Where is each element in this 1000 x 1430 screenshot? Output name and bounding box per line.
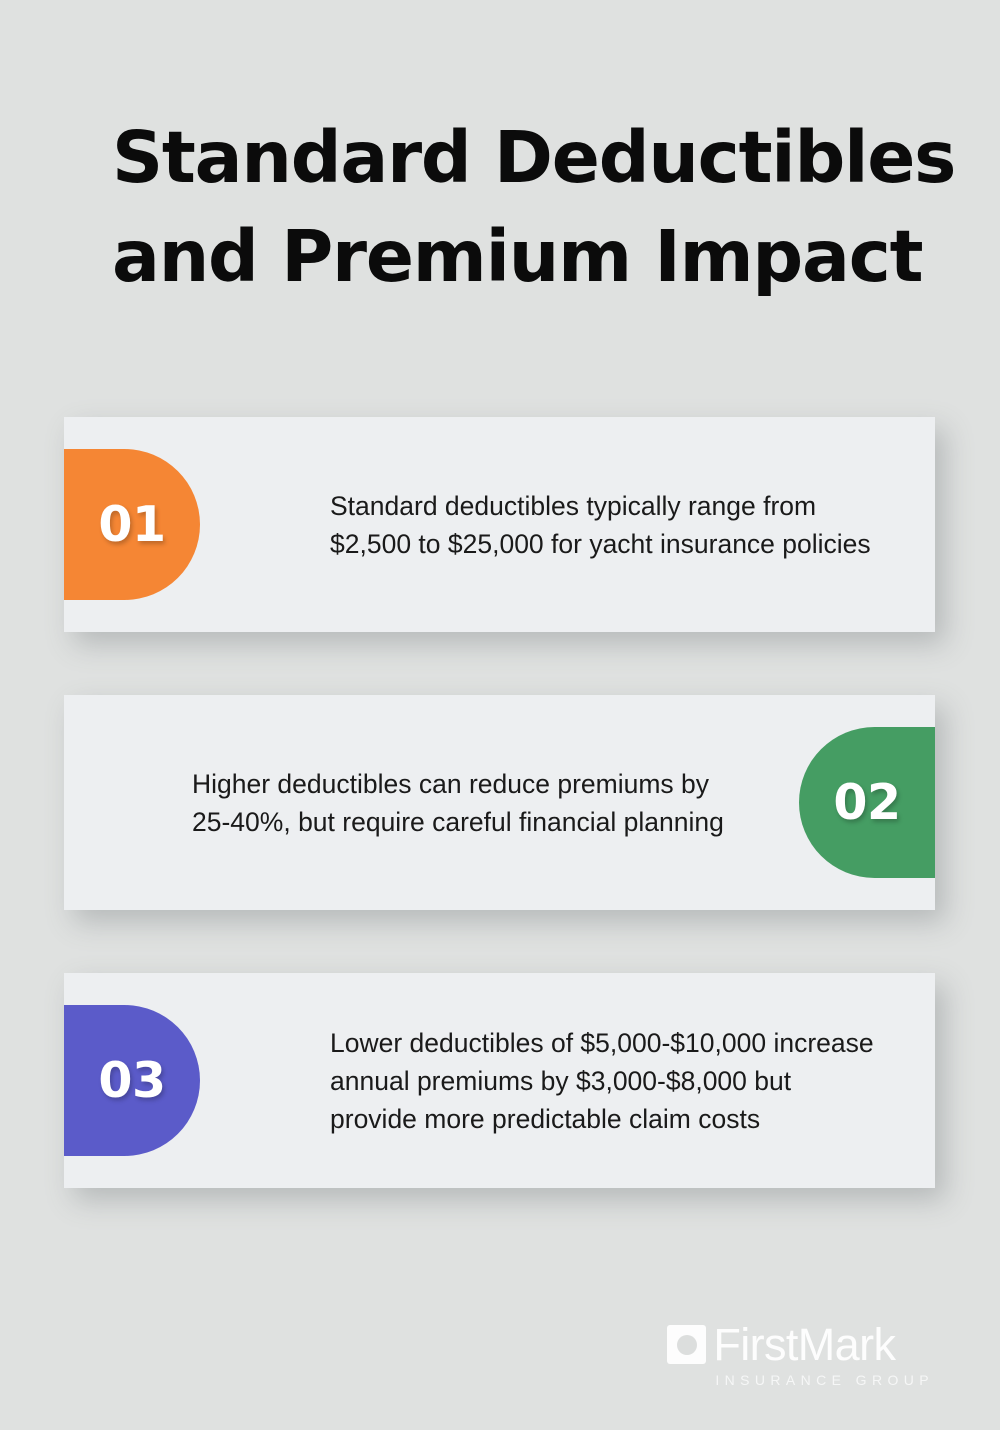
step-badge-02: 02 (799, 727, 935, 878)
info-card-02: 02 Higher deductibles can reduce premium… (64, 695, 935, 910)
brand-logo-row: FirstMark (667, 1322, 895, 1367)
step-number-01: 01 (98, 500, 165, 549)
card-list: 01 Standard deductibles typically range … (64, 417, 935, 1188)
brand-tagline: INSURANCE GROUP (715, 1372, 934, 1388)
square-with-circle-icon (667, 1325, 706, 1364)
info-card-01: 01 Standard deductibles typically range … (64, 417, 935, 632)
page-title-line-2: and Premium Impact (112, 207, 902, 306)
logo-mark-dot (677, 1335, 697, 1355)
step-number-03: 03 (98, 1056, 165, 1105)
card-text-03: Lower deductibles of $5,000-$10,000 incr… (330, 1024, 885, 1138)
step-number-02: 02 (833, 778, 900, 827)
info-card-03: 03 Lower deductibles of $5,000-$10,000 i… (64, 973, 935, 1188)
step-badge-03: 03 (64, 1005, 200, 1156)
brand-name: FirstMark (713, 1322, 895, 1367)
card-text-01: Standard deductibles typically range fro… (330, 487, 885, 563)
brand-logo: FirstMark INSURANCE GROUP (667, 1322, 934, 1388)
page-title: Standard Deductibles and Premium Impact (112, 108, 902, 306)
page-title-line-1: Standard Deductibles (112, 108, 902, 207)
card-text-02: Higher deductibles can reduce premiums b… (192, 765, 735, 841)
step-badge-01: 01 (64, 449, 200, 600)
